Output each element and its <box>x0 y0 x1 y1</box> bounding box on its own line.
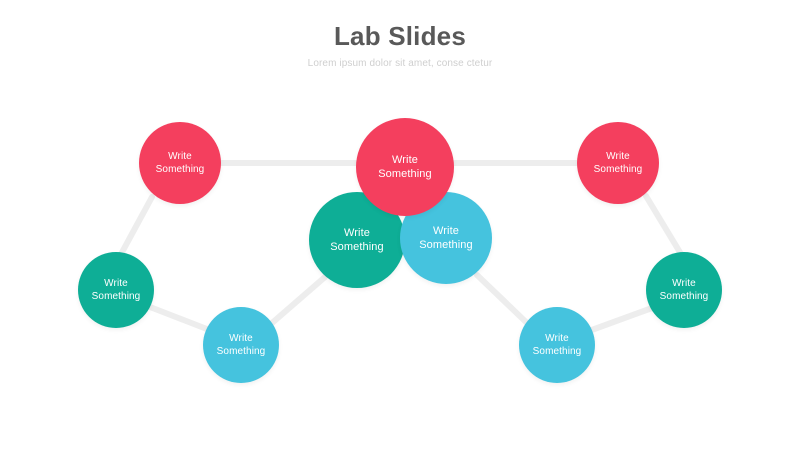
link-bottomblue-centerteal <box>272 277 325 323</box>
node-top-right[interactable]: Write Something <box>577 122 659 204</box>
link-bottomrightblue-rightteal <box>589 308 652 331</box>
node-left-teal[interactable]: Write Something <box>78 252 154 328</box>
bubble-label: Write Something <box>372 153 438 181</box>
node-top-left[interactable]: Write Something <box>139 122 221 204</box>
link-centerblue-bottomrightblue <box>477 275 527 323</box>
node-bottom-right-blue[interactable]: Write Something <box>519 307 595 383</box>
bubble-label: Write Something <box>588 150 649 176</box>
link-leftteal-bottomblue <box>150 307 212 331</box>
bubble-label: Write Something <box>150 150 211 176</box>
bubble-label: Write Something <box>413 224 479 252</box>
bubble-network-diagram: Write SomethingWrite SomethingWrite Some… <box>0 0 800 450</box>
slide-canvas: Lab Slides Lorem ipsum dolor sit amet, c… <box>0 0 800 450</box>
node-center-pink[interactable]: Write Something <box>356 118 454 216</box>
link-topleft-leftteal <box>120 197 152 256</box>
bubble-label: Write Something <box>527 332 588 358</box>
node-bottom-left-blue[interactable]: Write Something <box>203 307 279 383</box>
bubble-label: Write Something <box>211 332 272 358</box>
bubble-label: Write Something <box>324 226 390 254</box>
bubble-label: Write Something <box>654 277 715 303</box>
link-rightteal-topright <box>646 196 681 254</box>
bubble-label: Write Something <box>86 277 147 303</box>
node-right-teal[interactable]: Write Something <box>646 252 722 328</box>
